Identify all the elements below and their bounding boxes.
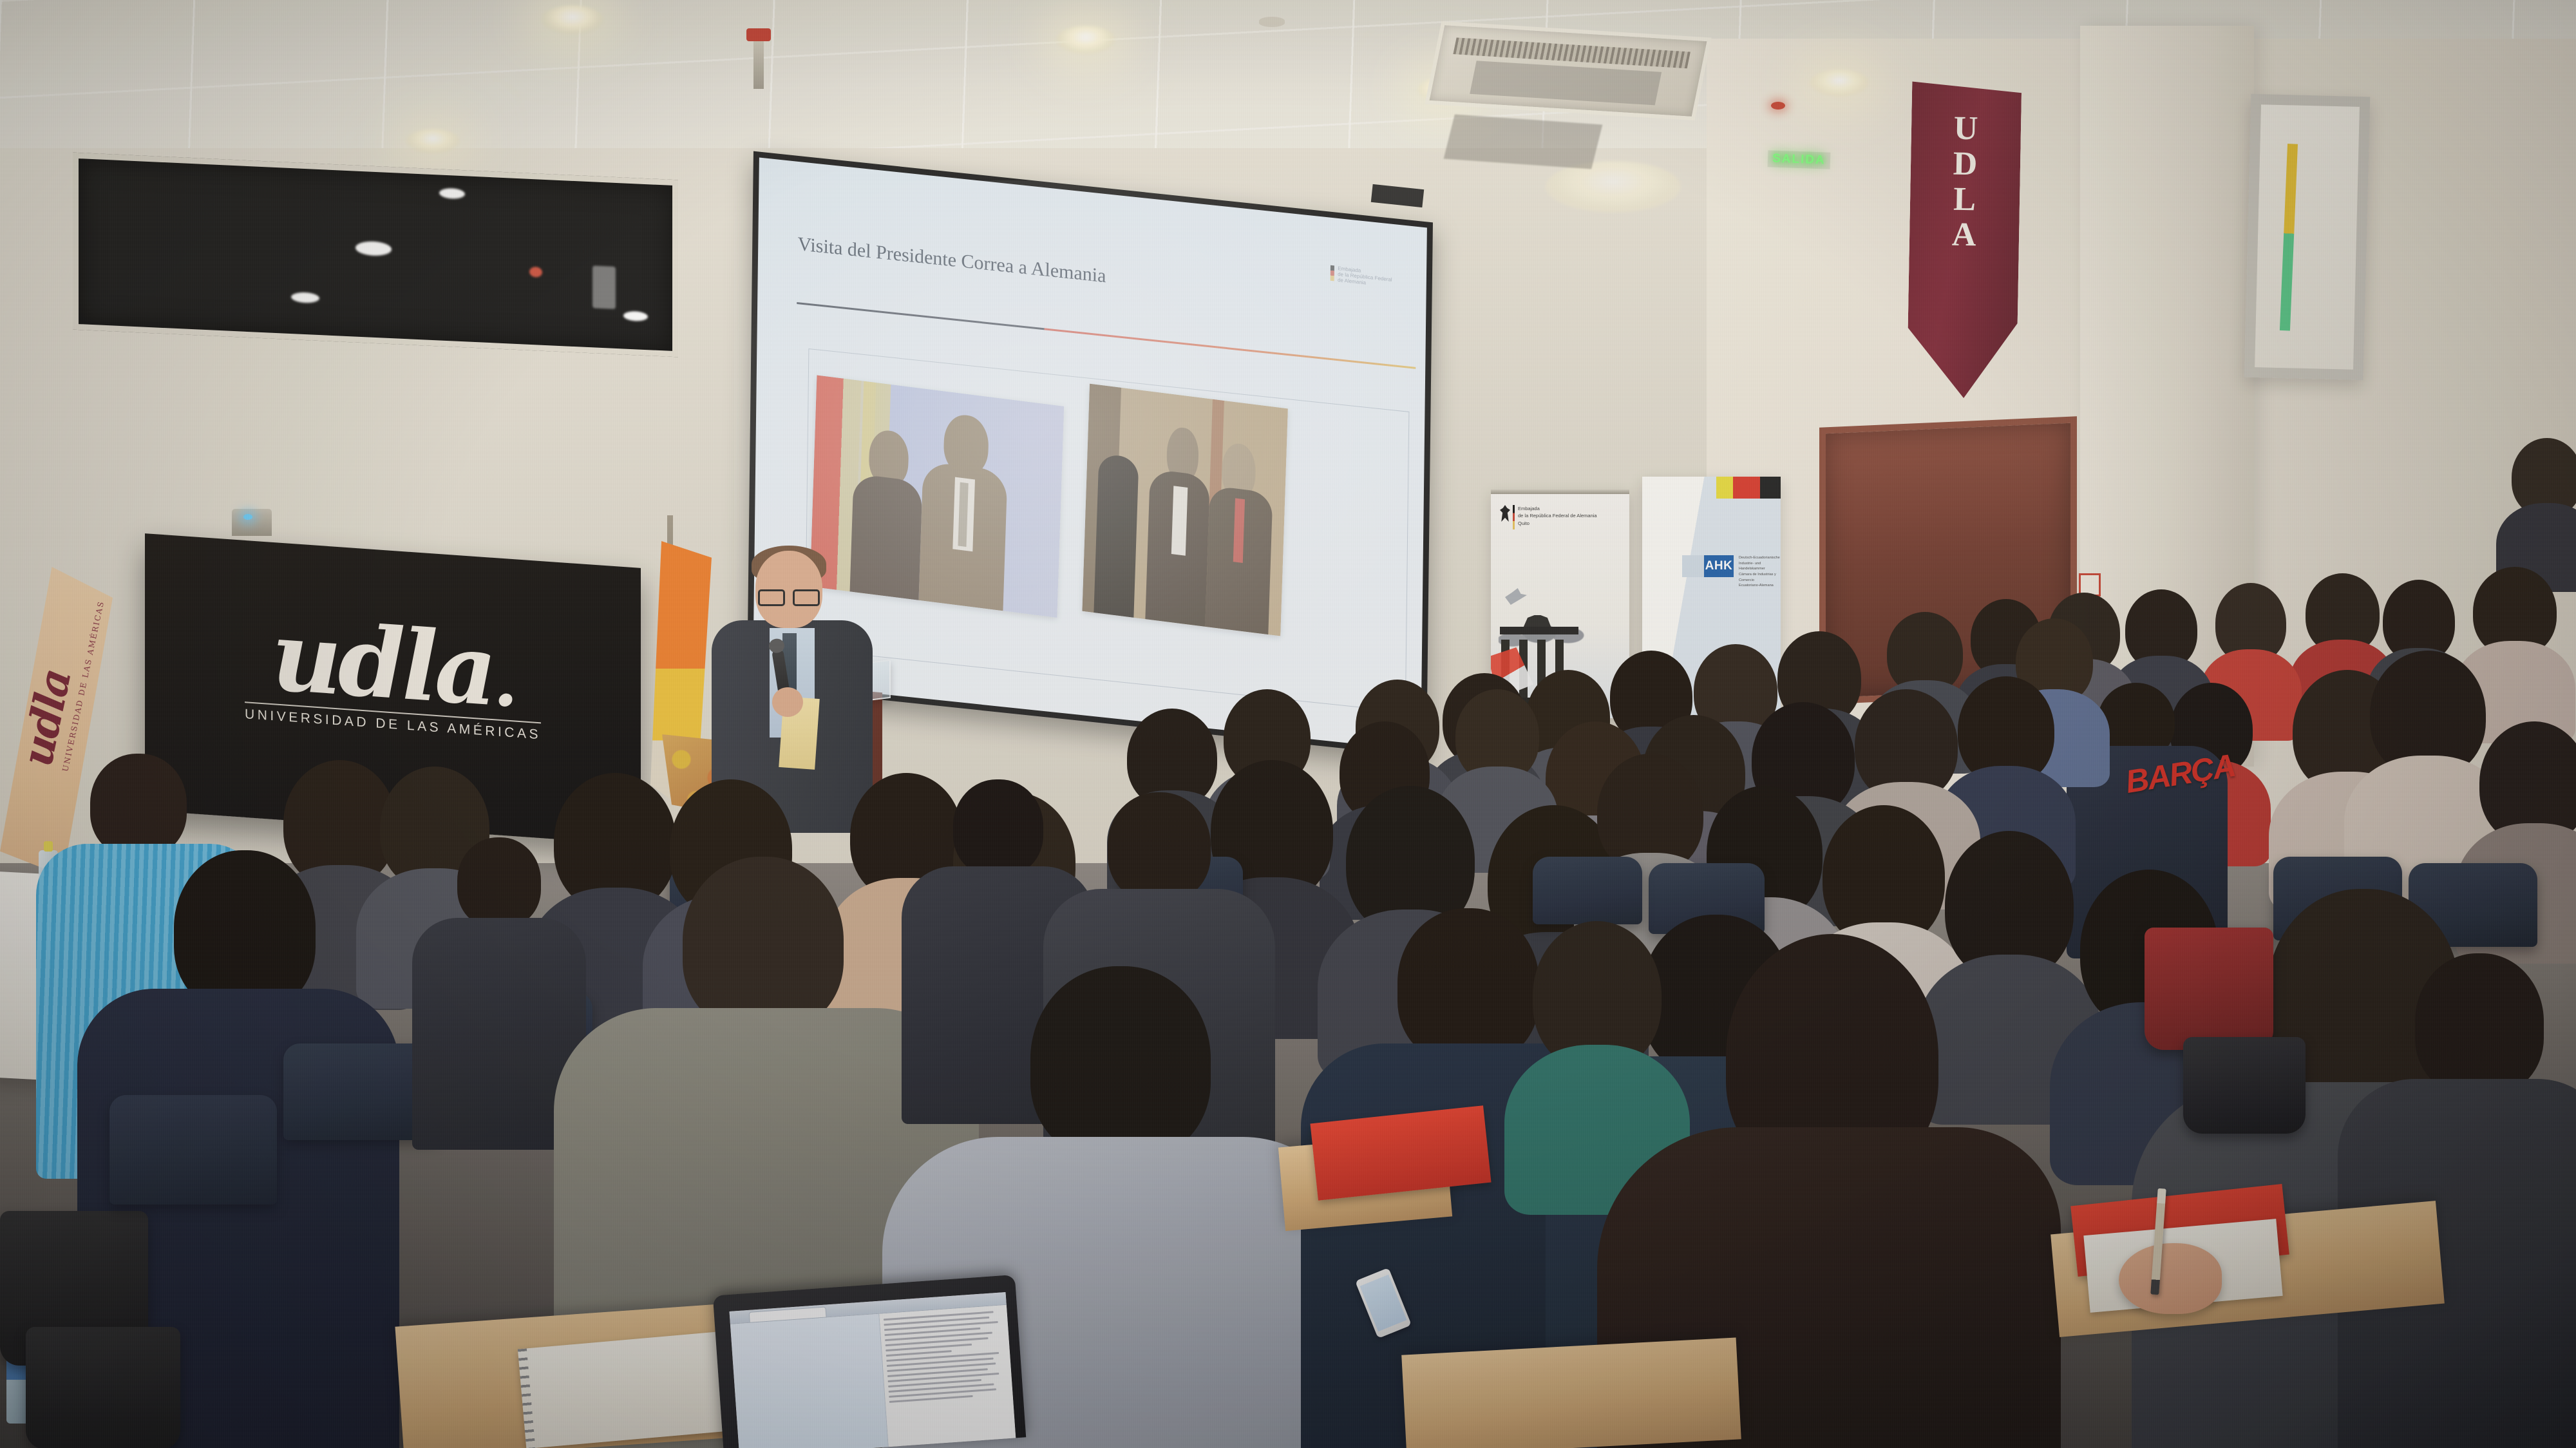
reflection-highlight: [355, 241, 392, 257]
reflection-highlight: [623, 310, 648, 321]
embassy-banner-text: Embajada de la República Federal de Alem…: [1518, 505, 1615, 527]
photo-scene: SALIDA Embajada de la República Federal …: [0, 0, 2576, 1448]
exit-sign: SALIDA: [1768, 150, 1831, 169]
eyeglasses-icon: [758, 589, 820, 602]
reflection-highlight-red: [529, 267, 542, 278]
reflection-highlight: [291, 292, 319, 303]
udla-logo: udla. UNIVERSIDAD DE LAS AMÉRICAS: [245, 613, 541, 743]
german-flag-bar-icon: [1513, 505, 1515, 529]
desk-surface: [1401, 1338, 1741, 1448]
writing-hand: [2119, 1243, 2222, 1314]
honour-guard: [1094, 453, 1139, 618]
sprinkler-head-icon: [753, 37, 764, 89]
laptop-screen[interactable]: [730, 1292, 1016, 1448]
ceiling-downlight: [1056, 26, 1115, 54]
auditorium-seat[interactable]: [109, 1095, 277, 1205]
german-flag-graphic: [1716, 477, 1781, 499]
black-bag: [2183, 1037, 2306, 1134]
laptop[interactable]: [713, 1275, 1027, 1448]
ahk-banner-subtitle: Deutsch-Ecuadorianische Industrie- und H…: [1739, 555, 1781, 589]
udla-logo-script: udla.: [245, 613, 541, 716]
document-page-right: [880, 1305, 1016, 1447]
red-bag: [2145, 928, 2273, 1050]
banner-rail: [1491, 490, 1629, 494]
booth-equipment: [592, 265, 616, 309]
control-booth-window: [73, 153, 678, 357]
reflection-highlight: [439, 187, 465, 199]
smoke-detector-icon: [1259, 17, 1285, 27]
indicator-light: [1771, 102, 1785, 110]
slide-corner-logo: Embajada de la República Federal de Alem…: [1331, 264, 1392, 289]
document-page-left: [730, 1314, 889, 1448]
audience-person: [2357, 953, 2576, 1448]
ceiling-downlight: [1810, 70, 1869, 97]
slide-title: Visita del Presidente Correa a Alemania: [797, 233, 1106, 287]
udla-pennant-letters: U D L A: [1909, 110, 2022, 254]
slide-photo-handshake-2: [1082, 384, 1287, 636]
backpack: [26, 1327, 180, 1448]
status-led-device: [232, 509, 272, 536]
ahk-logo: AHK: [1682, 555, 1734, 577]
german-flag-bar-icon: [1331, 265, 1334, 281]
audience-person: [425, 837, 573, 1140]
framed-artwork: [2244, 94, 2371, 380]
artwork-stripe: [2280, 144, 2298, 330]
audience-person: [2370, 651, 2486, 870]
slide-logo-text: Embajada de la República Federal de Alem…: [1338, 265, 1392, 289]
wall-wash-light: [1546, 161, 1681, 213]
ceiling-downlight: [406, 129, 460, 153]
speaker-hand: [772, 687, 803, 717]
federal-eagle-icon: [1500, 505, 1510, 522]
ceiling-downlight: [541, 5, 604, 35]
ahk-logo-text: AHK: [1704, 555, 1734, 577]
spiral-notebook: [518, 1331, 738, 1448]
air-conditioner-vent-icon: [1425, 21, 1711, 120]
audience-person: [2512, 438, 2576, 573]
